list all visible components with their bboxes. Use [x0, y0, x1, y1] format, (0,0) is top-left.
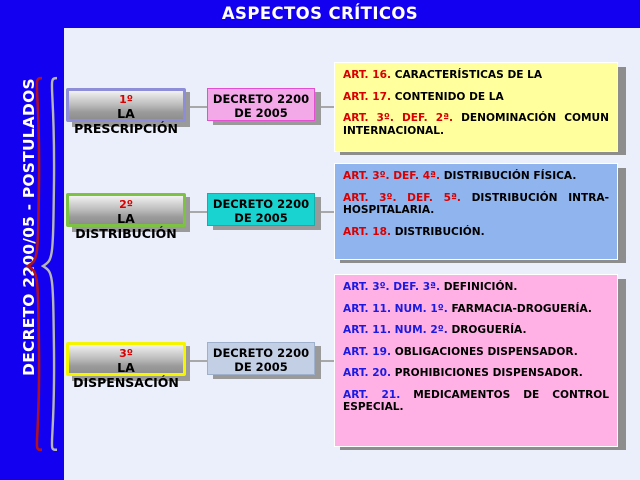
panel-item-article: ART. 3º. DEF. 3ª.: [343, 281, 440, 293]
panel-item-text: DEFINICIÓN.: [444, 281, 518, 293]
panel-item-article: ART. 21.: [343, 389, 400, 401]
content-panel-prescripcion: ART. 16. CARACTERÍSTICAS DE LA ART. 17. …: [334, 62, 618, 152]
panel-item-article: ART. 18.: [343, 226, 391, 238]
panel-item-article: ART. 16.: [343, 69, 391, 81]
content-panel-dispensacion: ART. 3º. DEF. 3ª. DEFINICIÓN. ART. 11. N…: [334, 274, 618, 447]
panel-item: ART. 18. DISTRIBUCIÓN.: [343, 226, 609, 239]
decree-line-2: DE 2005: [208, 211, 314, 225]
decree-line-2: DE 2005: [208, 360, 314, 374]
panel-item: ART. 3º. DEF. 3ª. DEFINICIÓN.: [343, 281, 609, 294]
panel-item: ART. 11. NUM. 1º. FARMACIA-DROGUERÍA.: [343, 303, 609, 316]
postulado-name: LA PRESCRIPCIÓN: [69, 106, 183, 136]
panel-item-article: ART. 3º. DEF. 4ª.: [343, 170, 440, 182]
panel-item-text: DROGUERÍA.: [451, 324, 526, 336]
decree-box-prescripcion[interactable]: DECRETO 2200 DE 2005: [207, 88, 315, 121]
panel-item-text: CONTENIDO DE LA: [395, 91, 504, 103]
postulado-box-prescripcion[interactable]: 1º LA PRESCRIPCIÓN: [66, 88, 186, 122]
panel-item: ART. 3º. DEF. 4ª. DISTRIBUCIÓN FÍSICA.: [343, 170, 609, 183]
postulado-ordinal: 1º: [69, 93, 183, 106]
panel-item: ART. 16. CARACTERÍSTICAS DE LA: [343, 69, 609, 82]
panel-item: ART. 3º. DEF. 5ª. DISTRIBUCIÓN INTRA-HOS…: [343, 192, 609, 217]
panel-item-article: ART. 17.: [343, 91, 391, 103]
red-brace-decoration: [26, 58, 48, 458]
decree-line-1: DECRETO 2200: [208, 92, 314, 106]
postulado-ordinal: 2º: [69, 198, 183, 211]
panel-item-text: DISTRIBUCIÓN FÍSICA.: [444, 170, 577, 182]
panel-item: ART. 11. NUM. 2º. DROGUERÍA.: [343, 324, 609, 337]
panel-shadow-row2: [618, 168, 626, 260]
panel-shadow-row3: [618, 279, 626, 447]
decree-box-dispensacion[interactable]: DECRETO 2200 DE 2005: [207, 342, 315, 375]
page-title: ASPECTOS CRÍTICOS: [0, 0, 640, 28]
decree-box-distribucion[interactable]: DECRETO 2200 DE 2005: [207, 193, 315, 226]
postulado-box-distribucion[interactable]: 2º LA DISTRIBUCIÓN: [66, 193, 186, 227]
panel-shadow-row1: [618, 67, 626, 152]
decree-line-2: DE 2005: [208, 106, 314, 120]
postulado-box-dispensacion[interactable]: 3º LA DISPENSACIÓN: [66, 342, 186, 376]
postulado-ordinal: 3º: [69, 347, 183, 360]
panel-item-text: FARMACIA-DROGUERÍA.: [451, 303, 591, 315]
decree-line-1: DECRETO 2200: [208, 346, 314, 360]
panel-item-article: ART. 19.: [343, 346, 391, 358]
panel-item: ART. 17. CONTENIDO DE LA: [343, 91, 609, 104]
decree-line-1: DECRETO 2200: [208, 197, 314, 211]
panel-item-article: ART. 11. NUM. 2º.: [343, 324, 448, 336]
postulado-name: LA DISTRIBUCIÓN: [69, 211, 183, 241]
postulado-name: LA DISPENSACIÓN: [69, 360, 183, 390]
panel-item: ART. 19. OBLIGACIONES DISPENSADOR.: [343, 346, 609, 359]
panel-item-text: DISTRIBUCIÓN.: [395, 226, 485, 238]
panel-item: ART. 3º. DEF. 2ª. DENOMINACIÓN COMUN INT…: [343, 112, 609, 137]
panel-item-text: CARACTERÍSTICAS DE LA: [395, 69, 542, 81]
panel-item-article: ART. 3º. DEF. 5ª.: [343, 192, 461, 204]
panel-item: ART. 20. PROHIBICIONES DISPENSADOR.: [343, 367, 609, 380]
slide-canvas: ASPECTOS CRÍTICOS DECRETO 2200/05 - POST…: [0, 0, 640, 480]
panel-item: ART. 21. MEDICAMENTOS DE CONTROL ESPECIA…: [343, 389, 609, 414]
panel-item-text: OBLIGACIONES DISPENSADOR.: [395, 346, 578, 358]
panel-item-text: PROHIBICIONES DISPENSADOR.: [395, 367, 583, 379]
content-panel-distribucion: ART. 3º. DEF. 4ª. DISTRIBUCIÓN FÍSICA. A…: [334, 163, 618, 260]
panel-item-article: ART. 20.: [343, 367, 391, 379]
panel-item-article: ART. 11. NUM. 1º.: [343, 303, 448, 315]
title-bar: ASPECTOS CRÍTICOS: [0, 0, 640, 28]
panel-item-article: ART. 3º. DEF. 2ª.: [343, 112, 453, 124]
